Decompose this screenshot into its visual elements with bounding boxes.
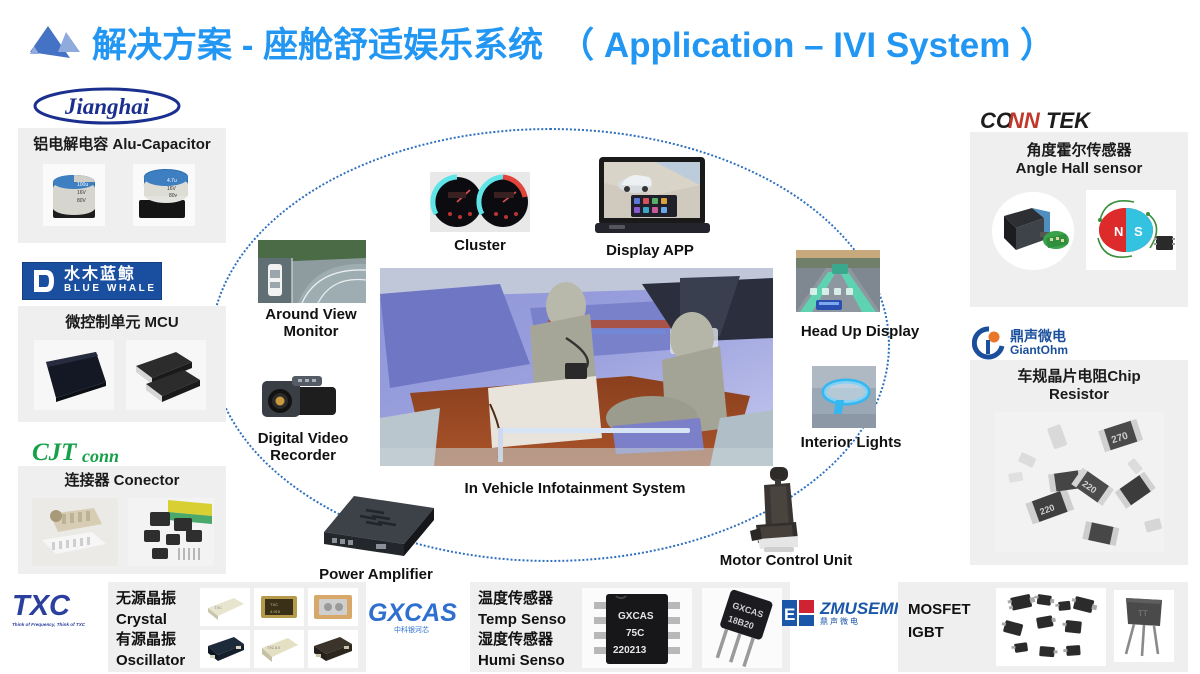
svg-text:100u: 100u (77, 182, 88, 188)
zmusemi-logo-icon: E ZMUSEMI 鼎声微电 (782, 598, 898, 628)
gxcas-to92-chip: GXCAS 18B20 (702, 588, 782, 668)
car-seat-image (742, 465, 812, 553)
svg-text:NN: NN (1008, 108, 1041, 133)
mcu-title-cn: 微控制单元 (65, 314, 140, 331)
slide-header: 解决方案 - 座舱舒适娱乐系统（ Application – IVI Syste… (0, 0, 1200, 80)
svg-text:16V: 16V (77, 190, 87, 196)
oscillator-photo-3 (308, 630, 358, 668)
svg-text:16V: 16V (167, 186, 177, 192)
smd-mosfet-group-photo (996, 588, 1106, 666)
svg-text:TXC: TXC (12, 590, 71, 622)
label-around-view-monitor: Around View Monitor (246, 306, 376, 341)
alu-capacitor-photo-1: 100u 16V 80V (43, 164, 105, 226)
center-display-tablet-image (595, 155, 710, 240)
oscillator-photo-1 (200, 630, 250, 668)
triangles-logo-icon (22, 18, 84, 68)
hud-road-image (796, 250, 880, 312)
svg-text:TT: TT (1138, 609, 1148, 618)
panel-jianghai: 铝电解电容 Alu-Capacitor 100u 16V 80V (18, 128, 226, 243)
jianghai-logo-icon: Jianghai (32, 86, 182, 131)
instrument-cluster-image (430, 172, 530, 232)
panel-txc: 无源晶振 Crystal 有源晶振 Oscillator TXC TXC4.91… (108, 582, 366, 672)
page-title-en: （ Application – IVI System ） (559, 26, 1055, 65)
svg-text:TXC 8.0: TXC 8.0 (267, 646, 280, 650)
svg-text:80v: 80v (169, 193, 178, 199)
blue-whale-logo-cn: 水木蓝鲸 (64, 267, 157, 284)
page-title: 解决方案 - 座舱舒适娱乐系统（ Application – IVI Syste… (92, 17, 1055, 68)
panel-zmusemi: MOSFET IGBT (898, 582, 1188, 672)
slide-canvas: 解决方案 - 座舱舒适娱乐系统（ Application – IVI Syste… (0, 0, 1200, 674)
label-ivi-system: In Vehicle Infotainment System (460, 480, 690, 497)
blue-whale-logo-en: BLUE WHALE (64, 284, 157, 295)
magnet-ns-diagram: N S (1086, 190, 1176, 270)
label-around-view-monitor-text: Around View Monitor (265, 306, 356, 340)
svg-text:S: S (1134, 224, 1143, 239)
label-power-amplifier: Power Amplifier (306, 566, 446, 583)
label-digital-video-recorder: Digital Video Recorder (238, 430, 368, 465)
svg-text:中科银河芯: 中科银河芯 (394, 625, 429, 634)
mcu-chip-photo-1 (34, 340, 114, 410)
to247-igbt-photo: TT (1114, 590, 1174, 662)
svg-text:E: E (784, 605, 795, 624)
label-motor-control-unit: Motor Control Unit (706, 552, 866, 569)
connector-photo-2 (128, 498, 214, 566)
connector-title-cn: 连接器 (64, 472, 109, 489)
txc-logo-icon: TXC Think of Frequency, Think of TXC (10, 588, 120, 637)
gxcas-chip1-line3: 220213 (613, 645, 647, 656)
interior-light-image (812, 366, 876, 428)
page-title-cn: 解决方案 - 座舱舒适娱乐系统 (92, 26, 543, 65)
label-dvr-text: Digital Video Recorder (258, 430, 349, 464)
svg-text:Think of Frequency, Think of T: Think of Frequency, Think of TXC (12, 622, 86, 627)
oscillator-photo-2: TXC 8.0 (254, 630, 304, 668)
around-view-camera-image (258, 240, 366, 303)
crystal-photo-1: TXC (200, 588, 250, 626)
svg-text:TEK: TEK (1046, 108, 1092, 133)
conntek-title-cn: 角度霍尔传感器 (970, 142, 1188, 160)
svg-text:N: N (1114, 224, 1123, 239)
gxcas-line-3: 湿度传感器 (478, 630, 566, 651)
blue-whale-logo-icon: 水木蓝鲸 BLUE WHALE (22, 262, 162, 300)
connector-title-en: Conector (114, 472, 180, 489)
conntek-title-en: Angle Hall sensor (970, 160, 1188, 178)
jianghai-title-en: Alu-Capacitor (112, 136, 210, 153)
dashcam-image (256, 373, 340, 427)
alu-capacitor-photo-2: 4.7u 16V 80v (133, 164, 195, 226)
connector-photo-1 (32, 498, 118, 566)
zmusemi-line-2: IGBT (908, 621, 971, 644)
panel-gxcas: 温度传感器 Temp Senso 湿度传感器 Humi Senso GXCAS … (470, 582, 790, 672)
svg-text:80V: 80V (77, 198, 87, 204)
label-cluster: Cluster (430, 237, 530, 254)
svg-text:4.915: 4.915 (270, 609, 281, 614)
jianghai-title-cn: 铝电解电容 (33, 136, 108, 153)
svg-text:CJT: CJT (32, 439, 78, 466)
svg-text:TXC: TXC (214, 605, 222, 610)
amplifier-box-image (318, 490, 440, 562)
gxcas-line-1: 温度传感器 (478, 589, 566, 610)
giantohm-logo-icon: 鼎声微电 GiantOhm (972, 326, 1068, 360)
gxcas-line-4: Humi Senso (478, 651, 566, 672)
gxcas-line-2: Temp Senso (478, 610, 566, 631)
zmusemi-logo-text: ZMUSEMI (820, 600, 898, 618)
crystal-photo-3 (308, 588, 358, 626)
txc-line-2: Crystal (116, 610, 185, 631)
txc-line-1: 无源晶振 (116, 589, 185, 610)
label-head-up-display: Head Up Display (790, 323, 930, 340)
giantohm-logo-en: GiantOhm (1010, 344, 1068, 357)
panel-blue-whale: 微控制单元 MCU (18, 306, 226, 422)
mcu-title-en: MCU (145, 314, 179, 331)
txc-line-3: 有源晶振 (116, 630, 185, 651)
panel-giantohm: 车规晶片电阻Chip Resistor 270 220 (970, 360, 1188, 565)
txc-line-4: Oscillator (116, 651, 185, 672)
panel-cjt-conn: 连接器 Conector (18, 466, 226, 574)
zmusemi-line-1: MOSFET (908, 598, 971, 621)
gxcas-chip1-line1: GXCAS (618, 611, 654, 622)
svg-text:GXCAS: GXCAS (368, 599, 457, 627)
svg-text:TXC: TXC (270, 602, 278, 607)
panel-conntek: 角度霍尔传感器 Angle Hall sensor (970, 132, 1188, 307)
mcu-chip-photo-2 (126, 340, 206, 410)
svg-text:4.7u: 4.7u (167, 178, 177, 184)
svg-text:Jianghai: Jianghai (64, 94, 150, 119)
svg-text:conn: conn (82, 446, 119, 466)
label-display-app: Display APP (580, 242, 720, 259)
hall-motor-photo (992, 192, 1074, 270)
label-interior-lights: Interior Lights (786, 434, 916, 451)
zmusemi-logo-sub: 鼎声微电 (820, 618, 898, 626)
chip-resistor-photo: 270 220 220 (994, 412, 1164, 552)
gxcas-chip1-line2: 75C (626, 628, 644, 639)
giantohm-title-cn: 车规晶片电阻Chip (970, 368, 1188, 386)
crystal-photo-2: TXC4.915 (254, 588, 304, 626)
giantohm-title-en: Resistor (970, 386, 1188, 404)
giantohm-logo-cn: 鼎声微电 (1010, 329, 1068, 344)
gxcas-soic-chip: GXCAS 75C 220213 (582, 588, 692, 668)
car-cabin-interior-image (380, 268, 773, 466)
